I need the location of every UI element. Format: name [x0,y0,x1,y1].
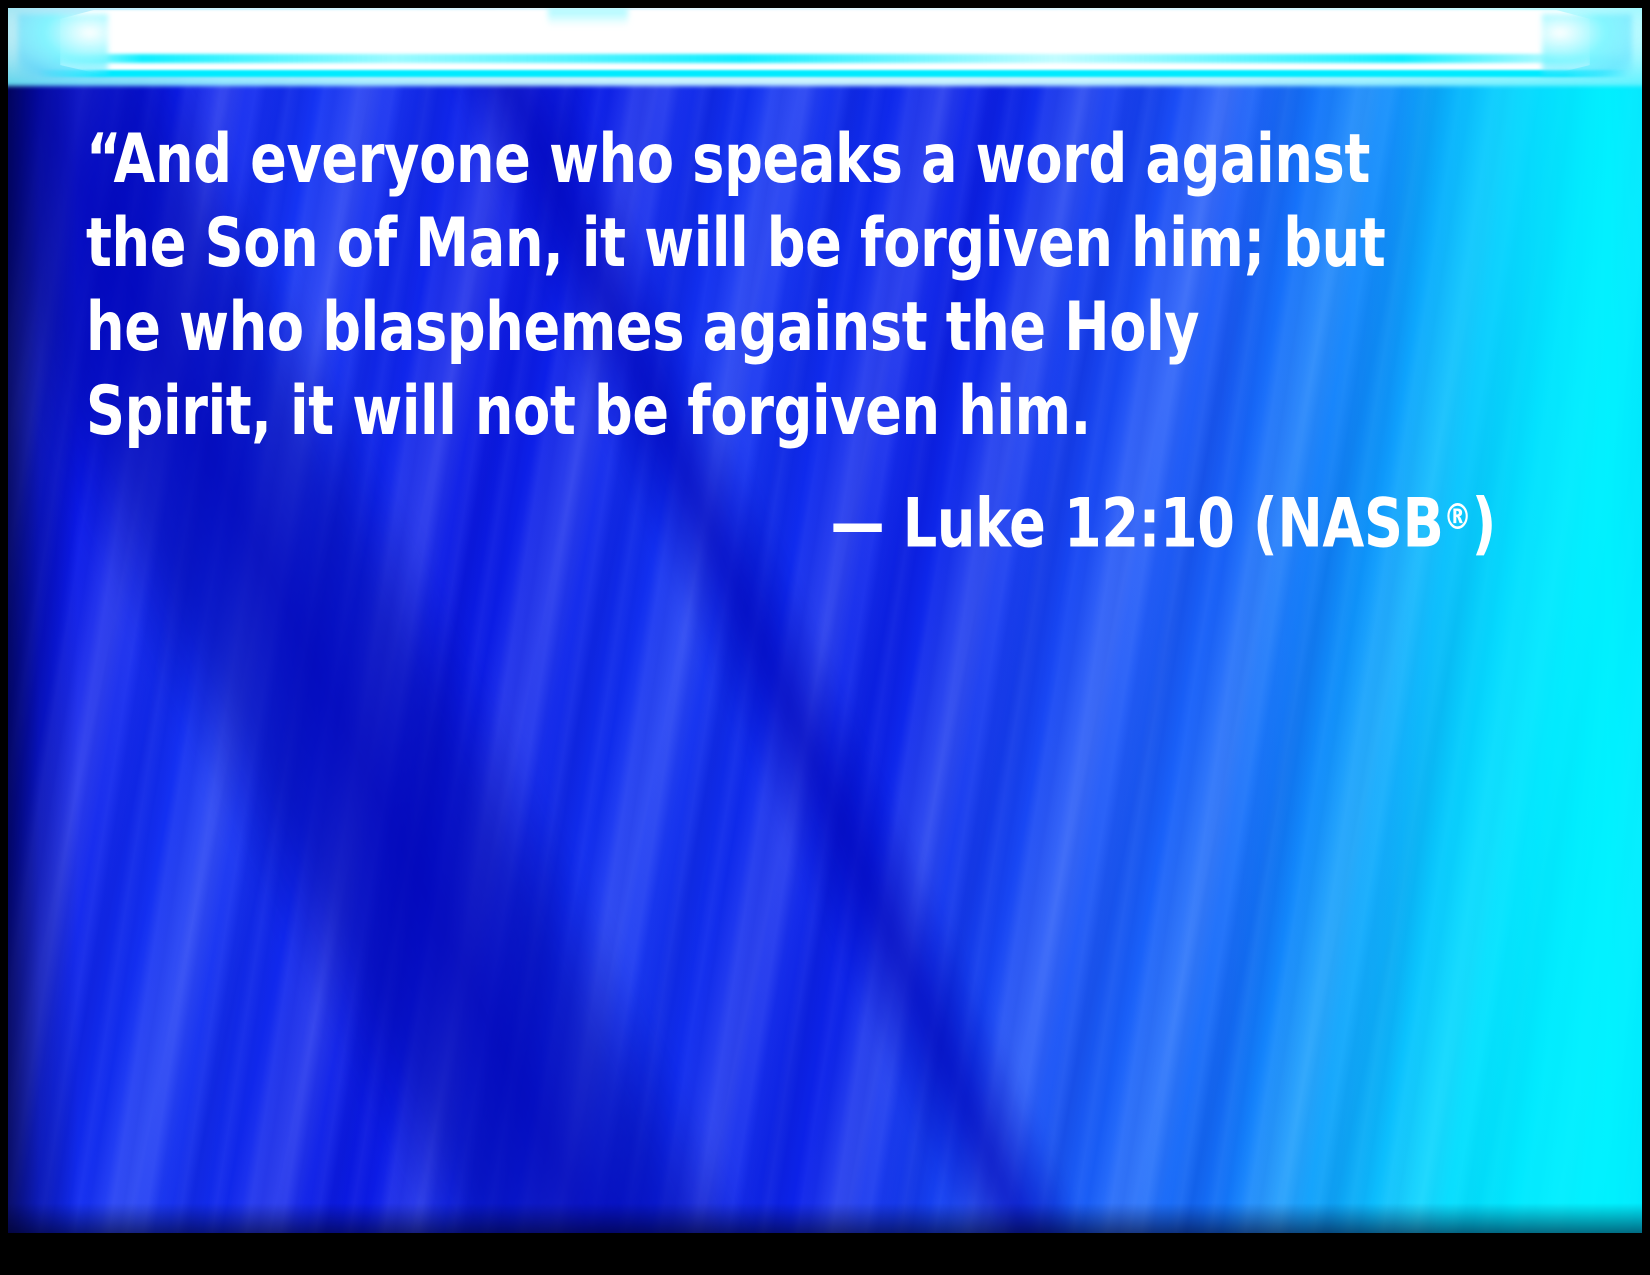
registered-trademark-icon: ® [1443,497,1471,538]
verse-line-1: “And everyone who speaks a word against [86,118,1343,202]
verse-line-2: the Son of Man, it will be forgiven him;… [86,202,1343,286]
verse-attribution: — Luke 12:10 (NASB®) [86,476,1496,567]
em-dash: — [830,485,884,564]
verse-line-3: he who blasphemes against the Holy [86,286,1343,370]
verse-text-block: “And everyone who speaks a word against … [86,118,1506,567]
background-left-shade [8,8,78,1233]
background-bottom-shade [8,1203,1642,1233]
slide-background: “And everyone who speaks a word against … [8,8,1642,1233]
slide-frame: “And everyone who speaks a word against … [0,0,1650,1275]
closing-paren: ) [1472,485,1496,564]
verse-reference: Luke 12:10 (NASB [903,485,1444,564]
verse-line-4: Spirit, it will not be forgiven him. [86,370,1343,454]
verse-attribution-inner: — Luke 12:10 (NASB®) [830,476,1496,567]
